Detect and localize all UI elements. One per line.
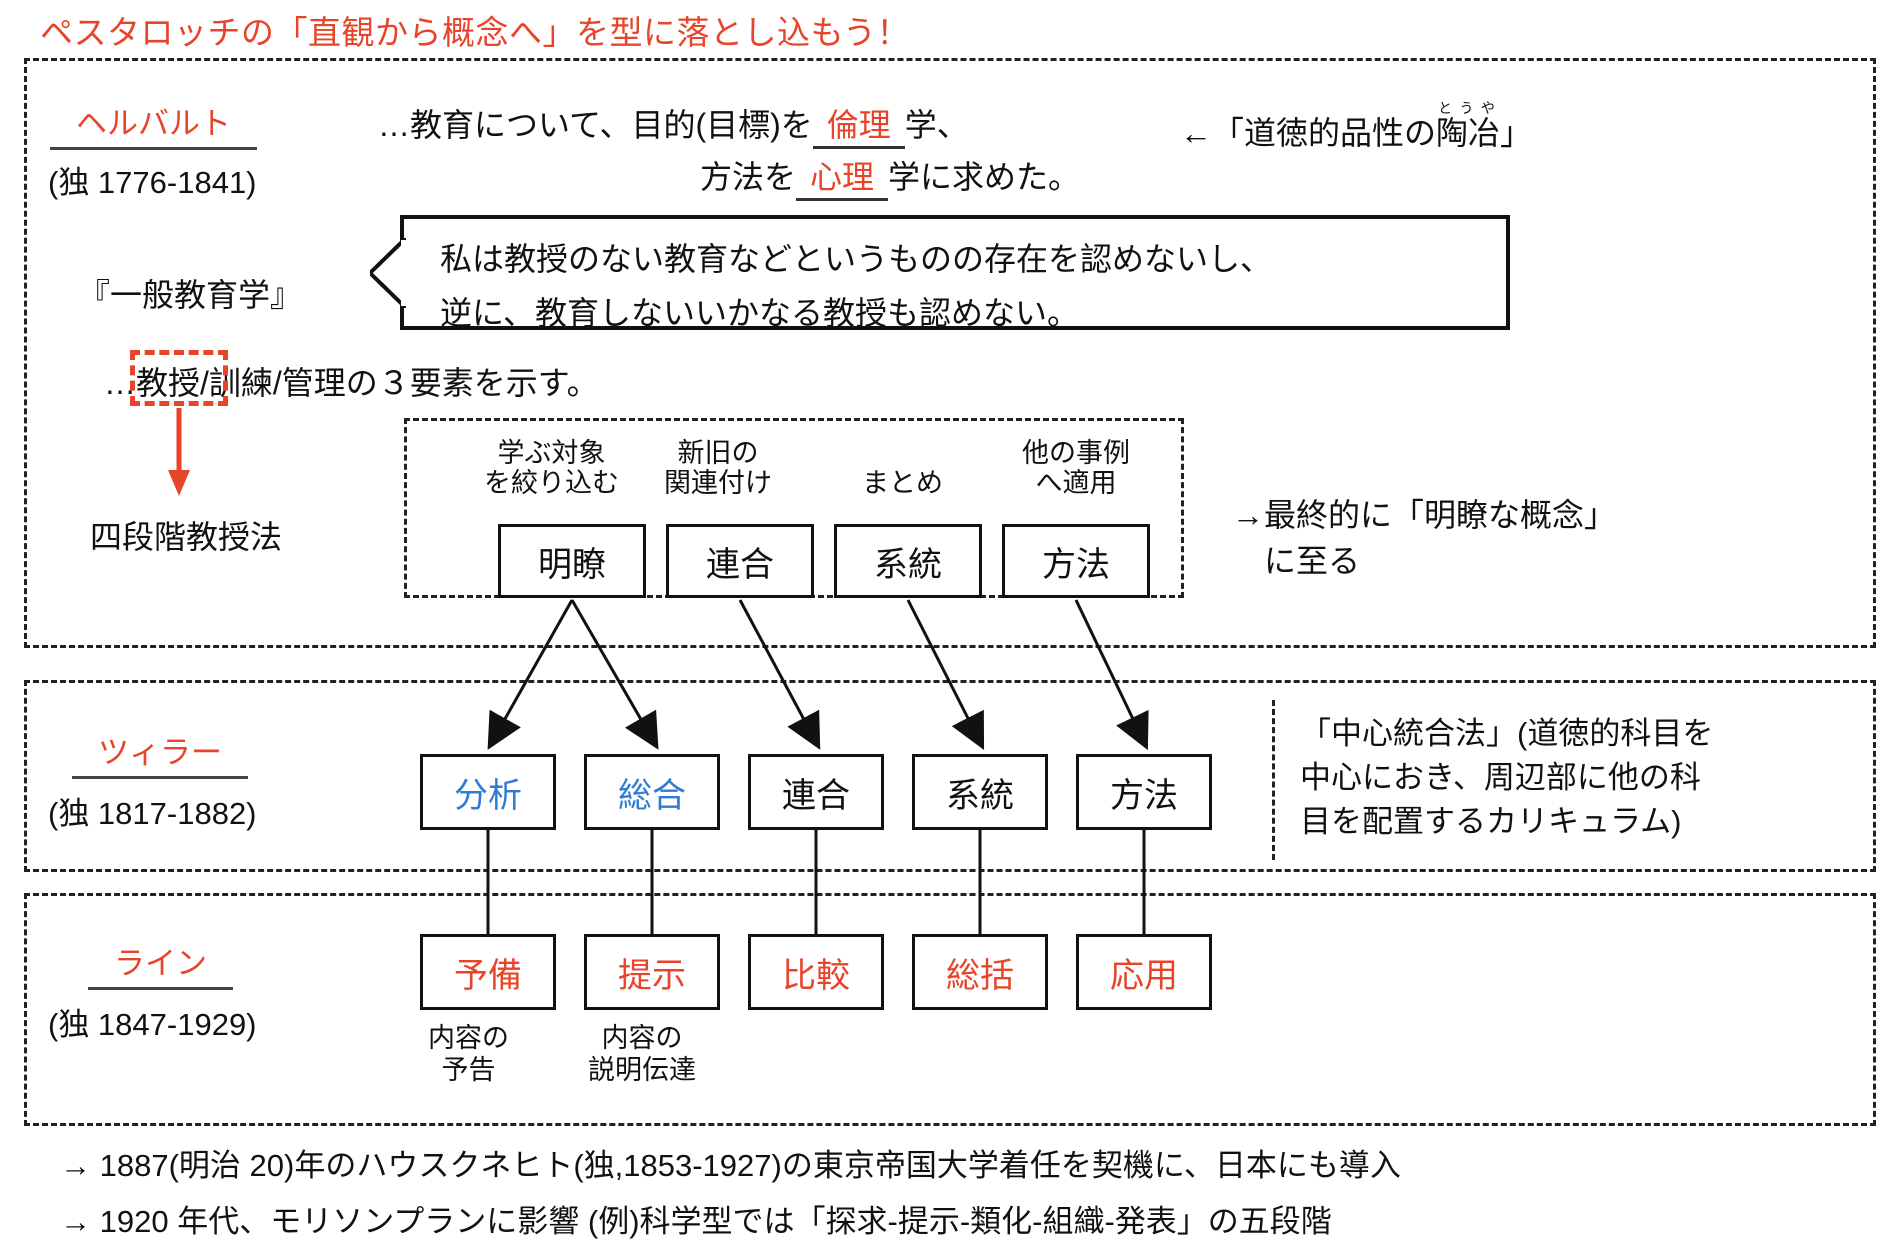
herbart-method-blank: 心理	[796, 152, 888, 201]
rein-years: (独 1847-1929)	[48, 999, 257, 1044]
ziller-note: 「中心統合法」(道徳的科目を 中心におき、周辺部に他の科 目を配置するカリキュラ…	[1300, 712, 1713, 844]
rein-stage-box-5[interactable]: 応用	[1076, 934, 1212, 1010]
page-title: ペスタロッチの「直観から概念へ」を型に落とし込もう！	[40, 6, 910, 54]
stage-caption-2: 新旧の 関連付け	[664, 438, 772, 498]
herbart-stage-box-2[interactable]: 連合	[666, 524, 814, 598]
herbart-purpose-sentence: …教育について、目的(目標)を倫理学、	[378, 100, 969, 149]
herbart-method-pre: 方法を	[700, 159, 796, 195]
rein-stage-box-1[interactable]: 予備	[420, 934, 556, 1010]
footer-line-2: → 1920 年代、モリソンプランに影響 (例)科学型では「探求-提示-類化-組…	[60, 1196, 1332, 1241]
herbart-book-title: 『一般教育学』	[78, 270, 302, 316]
ziller-name: ツィラー	[72, 727, 248, 779]
herbart-method-sentence: 方法を心理学に求めた。	[700, 152, 1080, 201]
touya-ruby: 陶冶とうや	[1436, 115, 1500, 151]
herbart-stage-box-4[interactable]: 方法	[1002, 524, 1150, 598]
red-down-arrow-icon	[166, 408, 192, 496]
ziller-stage-box-4[interactable]: 系統	[912, 754, 1048, 830]
herbart-method-post: 学に求めた。	[888, 159, 1080, 195]
touya-kanji: 陶冶	[1436, 115, 1500, 151]
herbart-stage-box-1[interactable]: 明瞭	[498, 524, 646, 598]
four-stage-method-label: 四段階教授法	[90, 512, 282, 558]
rein-subnote-1: 内容の 予告	[428, 1022, 509, 1087]
quote-bubble-tail	[370, 238, 406, 308]
touya-reading: とうや	[1436, 100, 1500, 116]
ziller-note-divider	[1272, 700, 1275, 860]
kyouju-highlight-box	[130, 350, 228, 406]
quote-line-1: 私は教授のない教育などというものの存在を認めないし、	[440, 234, 1272, 280]
rein-stage-box-3[interactable]: 比較	[748, 934, 884, 1010]
ziller-stage-box-2[interactable]: 総合	[584, 754, 720, 830]
stage-caption-4: 他の事例 へ適用	[1022, 438, 1130, 498]
three-elements-rest: /訓練/管理の３要素を示す。	[200, 365, 599, 401]
ziller-stage-box-3[interactable]: 連合	[748, 754, 884, 830]
herbart-name: ヘルバルト	[50, 98, 257, 150]
ziller-years: (独 1817-1882)	[48, 788, 257, 833]
herbart-years: (独 1776-1841)	[48, 157, 257, 202]
herbart-stage-box-3[interactable]: 系統	[834, 524, 982, 598]
left-arrow-icon: ←「道徳的品性の	[1180, 115, 1436, 151]
herbart-purpose-pre: …教育について、目的(目標)を	[378, 107, 813, 143]
moral-character-note: ←「道徳的品性の陶冶とうや」	[1180, 100, 1532, 154]
rein-stage-box-2[interactable]: 提示	[584, 934, 720, 1010]
footer-line-1: → 1887(明治 20)年のハウスクネヒト(独,1853-1927)の東京帝国…	[60, 1140, 1401, 1185]
herbart-purpose-post: 学、	[905, 107, 969, 143]
stage-caption-3: まとめ	[862, 468, 943, 498]
ziller-stage-box-5[interactable]: 方法	[1076, 754, 1212, 830]
rein-subnote-2: 内容の 説明伝達	[588, 1022, 696, 1087]
rein-stage-box-4[interactable]: 総括	[912, 934, 1048, 1010]
ziller-stage-box-1[interactable]: 分析	[420, 754, 556, 830]
moral-close-bracket: 」	[1500, 115, 1532, 151]
herbart-purpose-blank: 倫理	[813, 100, 905, 149]
stage-caption-1: 学ぶ対象 を絞り込む	[484, 438, 619, 498]
herbart-final-note: →最終的に「明瞭な概念」 に至る	[1232, 492, 1616, 585]
rein-name: ライン	[88, 938, 233, 990]
quote-line-2: 逆に、教育しないいかなる教授も認めない。	[440, 288, 1079, 334]
